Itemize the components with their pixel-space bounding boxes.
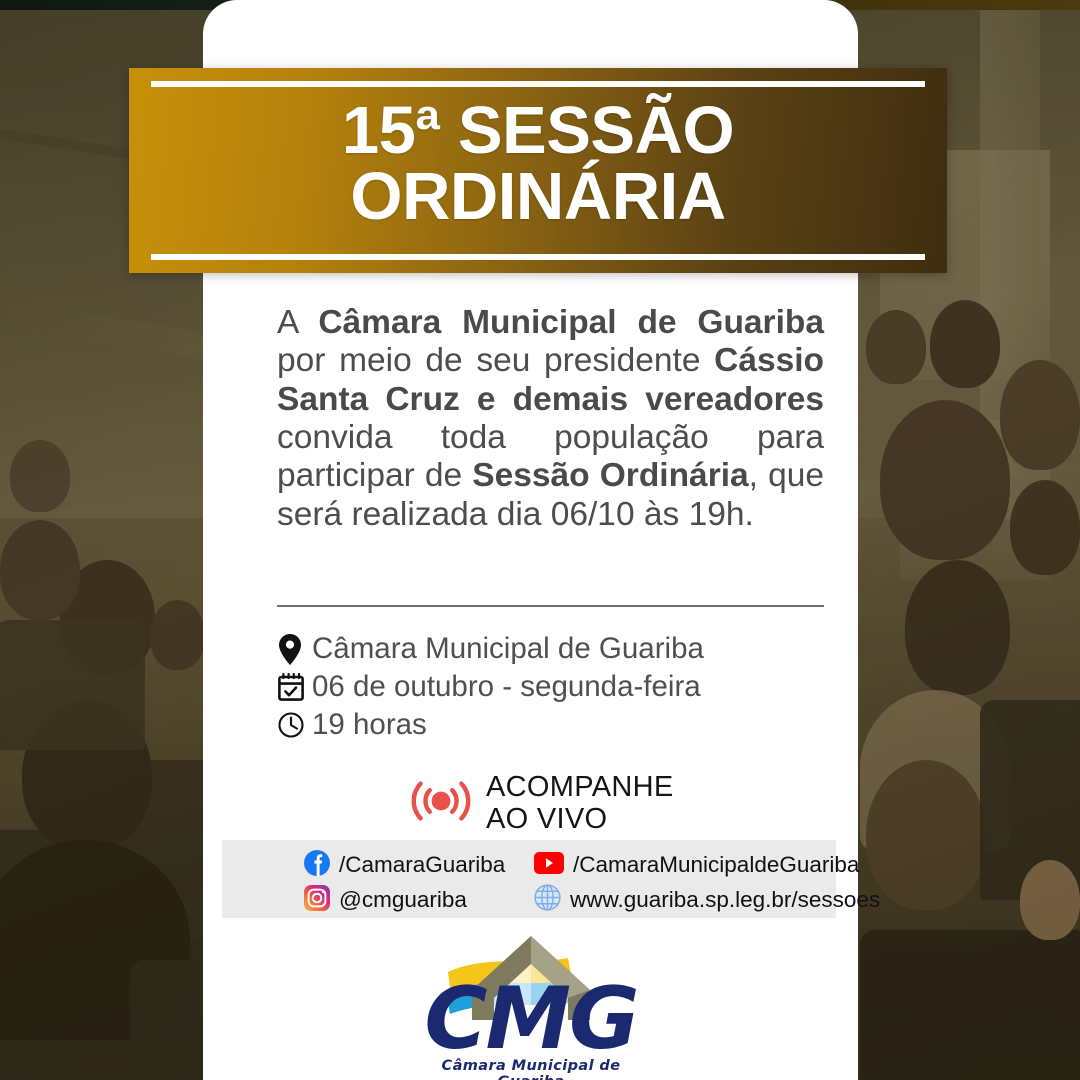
logo-subtitle: Câmara Municipal de Guariba (418, 1058, 644, 1080)
banner-rule-top (151, 81, 925, 87)
logo-initials: CMG (418, 976, 644, 1062)
calendar-check-icon (278, 673, 312, 701)
broadcast-live-icon (410, 776, 472, 831)
detail-row-date: 06 de outubro - segunda-feira (278, 668, 838, 706)
youtube-icon (534, 852, 564, 879)
youtube-handle: /CamaraMunicipaldeGuariba (573, 854, 859, 877)
page-title: 15ª SESSÃO ORDINÁRIA (129, 98, 947, 231)
title-banner: 15ª SESSÃO ORDINÁRIA (129, 68, 947, 273)
instagram-handle: @cmguariba (339, 889, 467, 912)
detail-date-text: 06 de outubro - segunda-feira (312, 672, 701, 702)
body-bold-1: Câmara Municipal de Guariba (318, 304, 824, 341)
facebook-icon (304, 850, 330, 881)
social-link-facebook[interactable]: /CamaraGuariba (304, 850, 534, 881)
cmg-logo: CMG Câmara Municipal de Guariba (418, 928, 644, 1073)
poster: 15ª SESSÃO ORDINÁRIA A Câmara Municipal … (0, 0, 1080, 1080)
detail-row-time: 19 horas (278, 706, 838, 744)
social-media-bar: /CamaraGuariba /CamaraMunicipaldeGuariba (222, 840, 836, 918)
detail-row-location: Câmara Municipal de Guariba (278, 630, 838, 668)
globe-icon (534, 884, 561, 916)
live-broadcast-block[interactable]: ACOMPANHE AO VIVO (410, 772, 673, 836)
social-link-youtube[interactable]: /CamaraMunicipaldeGuariba (534, 852, 880, 879)
live-line1: ACOMPANHE (486, 772, 673, 804)
social-link-instagram[interactable]: @cmguariba (304, 885, 534, 916)
location-pin-icon (278, 634, 312, 665)
event-details: Câmara Municipal de Guariba 06 de outubr… (278, 630, 838, 744)
social-link-website[interactable]: www.guariba.sp.leg.br/sessoes (534, 884, 880, 916)
facebook-handle: /CamaraGuariba (339, 854, 505, 877)
body-bold-3: Sessão Ordinária (472, 457, 748, 494)
live-line2: AO VIVO (486, 804, 673, 836)
instagram-icon (304, 885, 330, 916)
detail-location-text: Câmara Municipal de Guariba (312, 634, 704, 664)
website-url: www.guariba.sp.leg.br/sessoes (570, 889, 880, 912)
social-links-grid: /CamaraGuariba /CamaraMunicipaldeGuariba (304, 850, 880, 915)
body-text-2: por meio de seu presidente (277, 342, 714, 379)
body-text-1: A (277, 304, 318, 341)
banner-title-line2: ORDINÁRIA (129, 164, 947, 230)
clock-icon (278, 712, 312, 738)
invitation-text: A Câmara Municipal de Guariba por meio d… (277, 304, 824, 534)
banner-rule-bottom (151, 254, 925, 260)
banner-title-line1: 15ª SESSÃO (342, 93, 734, 168)
live-broadcast-label: ACOMPANHE AO VIVO (486, 772, 673, 836)
detail-time-text: 19 horas (312, 710, 427, 740)
section-divider (277, 605, 824, 607)
